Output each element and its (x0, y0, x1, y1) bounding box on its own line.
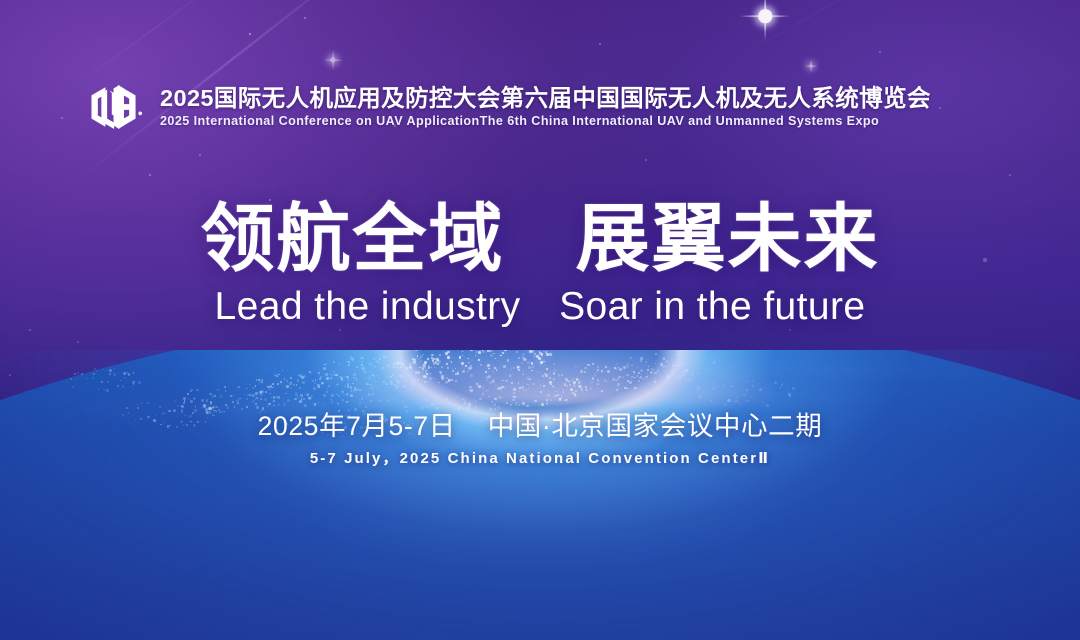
city-light (397, 380, 398, 381)
city-light (533, 383, 534, 384)
city-light (413, 361, 415, 363)
city-light (285, 393, 287, 395)
city-light (565, 399, 567, 401)
city-light (601, 390, 602, 391)
city-light (455, 380, 457, 382)
city-light (576, 379, 579, 382)
city-light (396, 387, 398, 389)
city-light (273, 405, 274, 406)
city-light (523, 370, 525, 372)
city-light (289, 385, 290, 386)
city-light (766, 404, 769, 407)
city-light (471, 359, 473, 361)
city-light (605, 380, 607, 382)
city-light (387, 364, 390, 367)
city-light (66, 381, 67, 382)
city-light (304, 404, 306, 406)
city-light (405, 380, 407, 382)
city-light (597, 379, 599, 381)
city-light (724, 403, 726, 405)
city-light (261, 379, 263, 381)
city-light (392, 366, 395, 369)
city-light (359, 389, 362, 392)
city-light (647, 369, 650, 372)
city-light (557, 394, 558, 395)
city-light (700, 397, 701, 398)
city-light (529, 350, 532, 353)
city-light (517, 366, 518, 367)
star-icon (179, 469, 182, 472)
star-icon (639, 469, 641, 471)
city-light (438, 382, 440, 384)
city-light (303, 375, 306, 378)
city-light (315, 379, 317, 381)
city-light (276, 375, 278, 377)
city-light (269, 389, 270, 390)
light-streak-icon (716, 0, 924, 71)
city-light (412, 361, 414, 363)
city-light (377, 374, 379, 376)
city-light (519, 391, 520, 392)
city-light (547, 394, 550, 397)
city-light (365, 406, 367, 408)
city-light (452, 369, 453, 370)
city-light (684, 369, 685, 370)
city-light (538, 380, 540, 382)
star-icon (1009, 174, 1011, 176)
city-light (424, 366, 425, 367)
city-light (369, 371, 370, 372)
city-light (423, 363, 426, 366)
city-light (369, 363, 371, 365)
city-light (568, 380, 571, 383)
city-light (703, 391, 705, 393)
city-light (400, 375, 401, 376)
city-light (339, 376, 341, 378)
city-light (124, 372, 127, 375)
city-light (417, 355, 419, 357)
city-light (663, 358, 665, 360)
city-light (634, 373, 636, 375)
city-light (578, 382, 580, 384)
city-light (348, 361, 350, 363)
city-light (736, 395, 738, 397)
city-light (490, 354, 493, 357)
city-light (566, 385, 568, 387)
city-light (612, 379, 614, 381)
city-light (581, 389, 583, 391)
star-icon (95, 507, 97, 509)
city-light (470, 389, 473, 392)
city-light (411, 383, 412, 384)
star-icon (886, 499, 888, 501)
city-light (435, 362, 437, 364)
city-light (532, 366, 534, 368)
city-light (107, 381, 109, 383)
city-light (604, 379, 605, 380)
city-light (597, 366, 599, 368)
city-light (299, 387, 301, 389)
city-light (637, 375, 639, 377)
city-light (310, 396, 313, 399)
city-light (691, 374, 694, 377)
city-light (667, 375, 670, 378)
sparkle-core (545, 488, 549, 492)
city-light (699, 395, 702, 398)
city-light (517, 366, 520, 369)
city-light (523, 358, 526, 361)
city-light (542, 375, 544, 377)
city-light (752, 385, 753, 386)
city-light (227, 406, 228, 407)
city-light (392, 377, 393, 378)
city-light (356, 366, 358, 368)
city-light (578, 385, 580, 387)
city-light (354, 392, 355, 393)
sparkle-core (809, 64, 812, 67)
city-light (434, 367, 435, 368)
city-light (417, 379, 419, 381)
city-light (360, 367, 362, 369)
city-light (352, 383, 353, 384)
city-light (402, 377, 404, 379)
city-light (309, 397, 311, 399)
city-light (373, 386, 374, 387)
city-light (540, 361, 542, 363)
city-light (534, 400, 537, 403)
city-light (485, 371, 487, 373)
city-light (354, 389, 357, 392)
city-light (590, 387, 592, 389)
city-light (587, 364, 589, 366)
city-light (423, 354, 424, 355)
city-light (101, 381, 103, 383)
city-light (690, 378, 692, 380)
background-glow-bottom (0, 320, 1080, 640)
city-light (206, 405, 207, 406)
city-light (512, 374, 513, 375)
atmosphere-warm-scatter (352, 350, 772, 404)
city-light (372, 365, 373, 366)
city-light (384, 357, 387, 360)
star-icon (29, 329, 32, 332)
city-light (640, 360, 642, 362)
star-icon (194, 376, 197, 379)
city-light (751, 396, 752, 397)
city-light (686, 369, 688, 371)
city-light (513, 367, 515, 369)
header-title-en: 2025 International Conference on UAV App… (160, 115, 931, 129)
city-light (415, 350, 417, 351)
city-light (654, 378, 655, 379)
city-light (355, 378, 356, 379)
city-light (503, 365, 505, 367)
city-light (673, 374, 675, 376)
city-light (411, 383, 414, 386)
city-light (668, 375, 670, 377)
city-light (439, 354, 441, 356)
city-light (496, 369, 497, 370)
city-light (397, 381, 400, 384)
city-light (217, 389, 219, 391)
city-light (137, 407, 138, 408)
city-light (631, 365, 633, 367)
city-light (383, 381, 385, 383)
city-light (627, 388, 628, 389)
city-light (299, 374, 302, 377)
city-light (590, 385, 591, 386)
city-light (627, 380, 629, 382)
city-light (372, 374, 374, 376)
cloud-band (386, 379, 949, 410)
sparkle-core (758, 9, 772, 23)
city-light (510, 369, 511, 370)
city-light (521, 362, 524, 365)
city-light (627, 363, 629, 365)
hero-block: 领航全域 展翼未来 Lead the industry Soar in the … (0, 200, 1080, 329)
city-light (260, 398, 262, 400)
city-light (614, 367, 616, 369)
city-light (565, 378, 568, 381)
city-light (409, 366, 410, 367)
city-light (492, 381, 494, 383)
city-light (400, 366, 402, 368)
city-light (388, 401, 389, 402)
city-light (710, 400, 712, 402)
city-light (295, 394, 297, 396)
city-light (616, 363, 619, 366)
city-light (271, 397, 272, 398)
city-light (677, 377, 679, 379)
city-light (502, 352, 504, 354)
city-light (391, 398, 393, 400)
city-light (183, 402, 185, 404)
city-light (435, 402, 438, 405)
city-light (642, 378, 644, 380)
city-light (273, 396, 276, 399)
city-light (580, 370, 583, 373)
city-light (392, 374, 394, 376)
city-light (546, 368, 548, 370)
city-light (637, 366, 639, 368)
city-light (238, 386, 240, 388)
city-light (420, 355, 423, 358)
city-light (792, 387, 795, 390)
city-light (138, 381, 141, 384)
city-light (527, 384, 528, 385)
city-light (662, 365, 665, 368)
city-light (435, 407, 437, 409)
city-light (468, 362, 469, 363)
city-light (558, 374, 560, 376)
city-light (734, 379, 735, 380)
city-light (441, 377, 444, 380)
city-light (368, 384, 370, 386)
city-light (531, 362, 532, 363)
city-light (561, 396, 562, 397)
city-light (462, 398, 464, 400)
city-light (409, 363, 412, 366)
city-light (252, 400, 254, 402)
city-light (617, 383, 620, 386)
city-light (685, 371, 686, 372)
city-light (301, 376, 304, 379)
city-light (374, 366, 376, 368)
city-light (123, 372, 126, 375)
city-light (77, 372, 79, 374)
city-light (438, 402, 441, 405)
city-light (577, 366, 579, 368)
city-light (336, 394, 337, 395)
city-light (487, 350, 489, 352)
city-light (519, 387, 521, 389)
city-light (546, 402, 549, 405)
hero-headline-cn: 领航全域 展翼未来 (0, 200, 1080, 278)
city-light (413, 387, 414, 388)
city-light (427, 373, 428, 374)
city-light (707, 368, 709, 370)
city-light (482, 393, 484, 395)
city-light (517, 367, 519, 369)
city-light (286, 380, 288, 382)
city-light (321, 382, 323, 384)
city-light (361, 397, 363, 399)
city-light (763, 402, 764, 403)
city-light (634, 387, 636, 389)
guc-hexagon-logo-icon (88, 78, 146, 136)
city-light (236, 399, 239, 402)
city-light (394, 361, 395, 362)
city-light (499, 387, 502, 390)
city-light (324, 364, 326, 366)
city-light (746, 389, 748, 391)
city-light (268, 403, 271, 406)
city-light (341, 378, 342, 379)
city-light (451, 361, 452, 362)
city-light (654, 381, 656, 383)
city-light (109, 375, 111, 377)
city-light (672, 364, 675, 367)
city-light (542, 363, 543, 364)
hero-headline-cn-part1: 领航全域 (200, 197, 504, 280)
city-light (201, 407, 203, 409)
city-light (428, 367, 430, 369)
city-light (640, 376, 642, 378)
city-light (426, 373, 428, 375)
city-light (259, 391, 262, 394)
city-light (425, 370, 427, 372)
sparkle-star-icon (739, 0, 791, 42)
city-light (475, 355, 477, 357)
city-light (657, 369, 659, 371)
city-light (644, 376, 646, 378)
city-light (464, 399, 466, 401)
city-light (386, 383, 388, 385)
city-light (422, 368, 424, 370)
city-light (529, 379, 530, 380)
city-light (500, 355, 502, 357)
city-light (372, 375, 374, 377)
city-light (607, 370, 610, 373)
atmosphere-rim (0, 350, 1080, 640)
city-light (437, 361, 438, 362)
city-light (267, 406, 268, 407)
city-light (457, 396, 459, 398)
city-light (506, 402, 508, 404)
city-light (646, 372, 648, 374)
city-light (195, 406, 196, 407)
city-light (505, 380, 508, 383)
city-light (704, 358, 706, 360)
city-light (746, 380, 748, 382)
city-light (789, 395, 791, 397)
city-light (554, 395, 556, 397)
city-light (425, 398, 428, 401)
city-light (314, 403, 316, 405)
city-light (615, 369, 617, 371)
city-light (297, 397, 298, 398)
city-light (561, 374, 563, 376)
city-light (337, 403, 339, 405)
city-light (422, 365, 425, 368)
city-light (591, 382, 592, 383)
city-light (346, 393, 348, 395)
city-light (308, 397, 310, 399)
star-icon (699, 507, 701, 509)
city-light (181, 405, 182, 406)
city-light (440, 373, 441, 374)
city-light (497, 406, 500, 409)
city-light (457, 371, 458, 372)
city-light (580, 386, 583, 389)
conference-banner: 2025国际无人机应用及防控大会第六届中国国际无人机及无人系统博览会 2025 … (0, 0, 1080, 640)
city-light (419, 358, 420, 359)
city-light (469, 386, 472, 389)
city-light (181, 405, 184, 408)
city-light (653, 370, 654, 371)
city-light (468, 367, 470, 369)
city-light (261, 390, 263, 392)
city-light (148, 402, 149, 403)
city-light (206, 399, 208, 401)
city-light (372, 387, 373, 388)
city-light (291, 382, 292, 383)
city-light (270, 393, 271, 394)
city-light (573, 381, 576, 384)
city-light (387, 357, 388, 358)
city-light (512, 396, 513, 397)
city-light (481, 396, 483, 398)
city-light (522, 357, 523, 358)
city-light (683, 373, 686, 376)
city-light (623, 366, 626, 369)
city-light (620, 376, 622, 378)
city-light (730, 396, 731, 397)
city-light (378, 400, 381, 403)
city-light (397, 380, 399, 382)
city-light (572, 390, 573, 391)
city-light (468, 403, 470, 405)
city-light (745, 393, 746, 394)
city-light (613, 378, 615, 380)
city-light (498, 360, 499, 361)
city-light (297, 379, 300, 382)
city-light (575, 390, 577, 392)
city-light (681, 358, 682, 359)
city-light (572, 381, 573, 382)
city-light (437, 363, 439, 365)
city-light (233, 395, 234, 396)
